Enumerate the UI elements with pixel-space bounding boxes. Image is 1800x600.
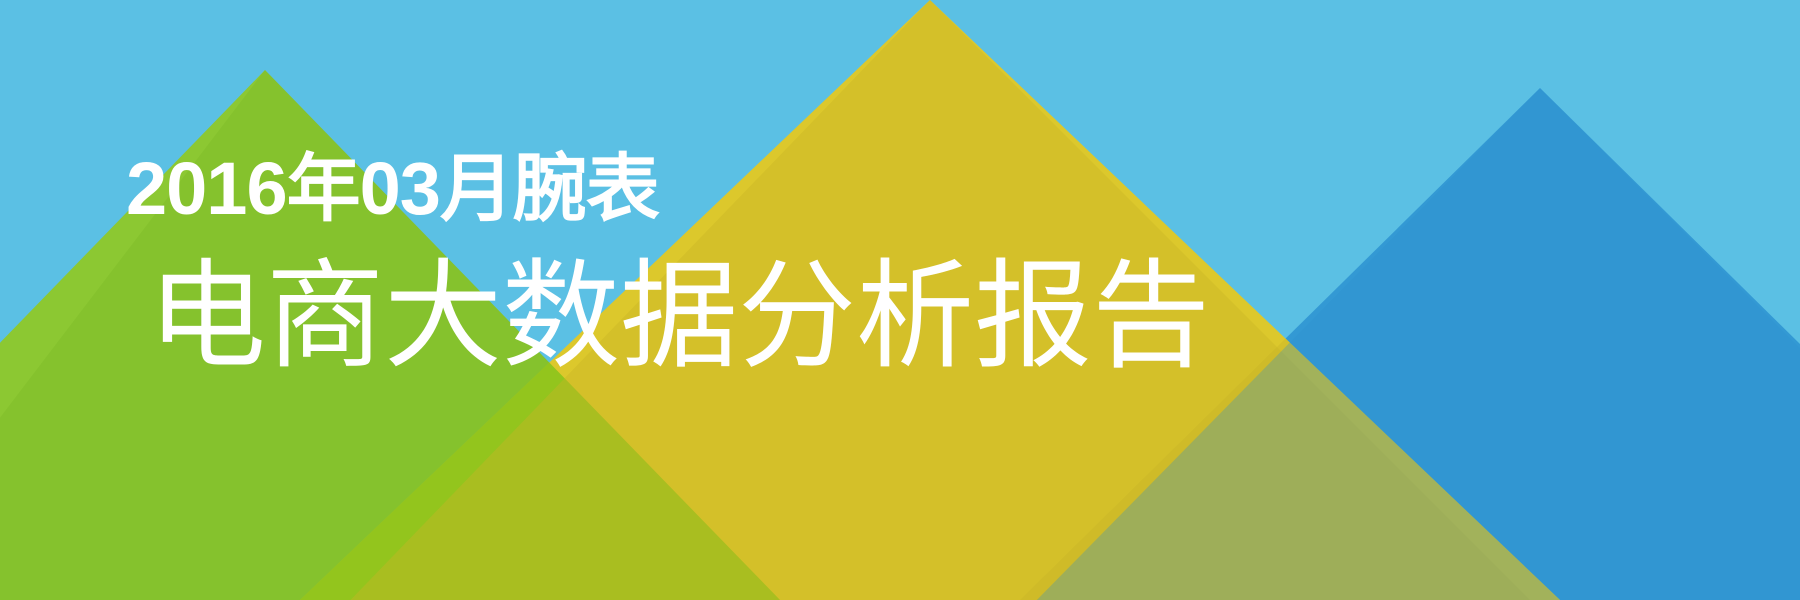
background-artwork [0,0,1800,600]
report-cover-banner: 2016年03月腕表 电商大数据分析报告 [0,0,1800,600]
